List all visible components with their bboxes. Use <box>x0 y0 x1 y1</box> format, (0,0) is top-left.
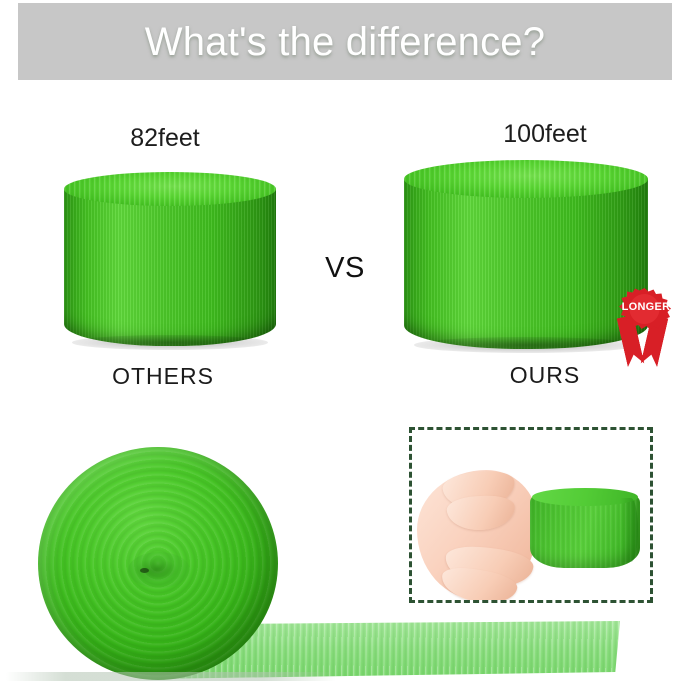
header-banner: What's the difference? <box>18 3 672 80</box>
right-product-length-label: 100feet <box>440 120 650 149</box>
roll-top <box>404 160 648 198</box>
roll-top <box>64 172 276 206</box>
detail-inset-panel <box>409 427 653 603</box>
left-product-length-label: 82feet <box>60 124 270 153</box>
roll-shadow <box>414 337 638 353</box>
longer-badge: LONGER <box>608 286 679 368</box>
roll-core-hole <box>140 568 149 573</box>
page-title: What's the difference? <box>145 22 545 62</box>
longer-badge-label: LONGER <box>612 301 679 313</box>
roll-shadow <box>72 335 267 350</box>
surface-shadow <box>6 672 336 681</box>
left-product-name-label: OTHERS <box>58 363 268 390</box>
right-product-name-label: OURS <box>440 362 650 389</box>
roll-core-shading <box>128 552 190 588</box>
vs-label: VS <box>318 252 372 285</box>
roll-body <box>64 189 276 346</box>
roll-edge-shading <box>620 498 638 562</box>
held-roll-image <box>530 488 640 572</box>
left-product-image <box>64 172 276 350</box>
